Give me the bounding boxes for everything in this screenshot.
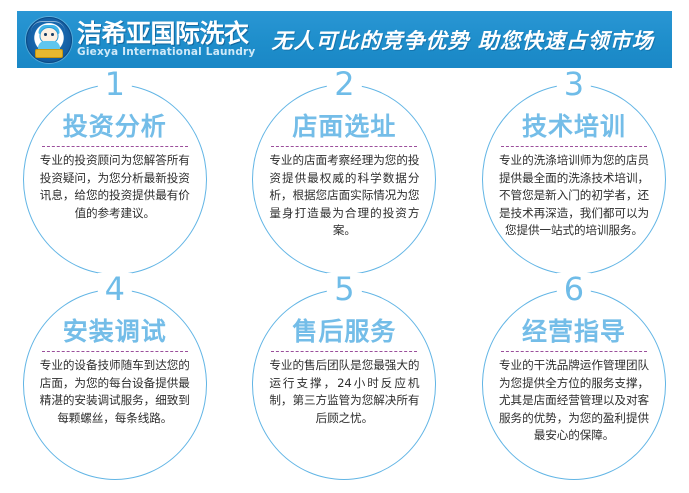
feature-card-6[interactable]: 6 经营指导 专业的干洗品牌运作管理团队为您提供全方位的服务支撑，尤其是店面经营… (459, 277, 689, 482)
feature-card-3[interactable]: 3 技术培训 专业的洗涤培训师为您的店员提供最全面的洗涤技术培训，不管您是新入门… (459, 72, 689, 277)
card-row-top: 1 投资分析 专业的投资顾问为您解答所有投资疑问，为您分析最新投资讯息，给您的投… (0, 72, 689, 277)
card-title: 售后服务 (292, 312, 396, 348)
logo-text-block: 洁希亚国际洗衣 Giexya International Laundry (77, 21, 255, 58)
card-divider (42, 146, 188, 147)
mascot-eye-left (44, 33, 47, 36)
card-divider (271, 351, 417, 352)
card-title: 技术培训 (522, 107, 626, 143)
card-title: 店面选址 (292, 107, 396, 143)
card-body-text: 专业的设备技师随车到达您的店面，为您的每台设备提供最精湛的安装调试服务，细致到每… (40, 357, 190, 427)
card-title: 安装调试 (63, 312, 167, 348)
brand-name-cn: 洁希亚国际洗衣 (77, 21, 255, 46)
card-body-text: 专业的售后团队是您最强大的运行支撑，24小时反应机制，第三方监管为您解决所有后顾… (269, 357, 419, 427)
card-body-text: 专业的洗涤培训师为您的店员提供最全面的洗涤技术培训，不管您是新入门的初学者，还是… (499, 152, 649, 240)
feature-card-4[interactable]: 4 安装调试 专业的设备技师随车到达您的店面，为您的每台设备提供最精湛的安装调试… (0, 277, 230, 482)
card-row-bottom: 4 安装调试 专业的设备技师随车到达您的店面，为您的每台设备提供最精湛的安装调试… (0, 277, 689, 482)
card-number: 1 (98, 68, 132, 100)
feature-card-5[interactable]: 5 售后服务 专业的售后团队是您最强大的运行支撑，24小时反应机制，第三方监管为… (230, 277, 460, 482)
card-number: 5 (327, 273, 361, 305)
header-banner: 洁希亚国际洗衣 Giexya International Laundry 无人可… (17, 11, 672, 68)
card-body-text: 专业的干洗品牌运作管理团队为您提供全方位的服务支撑，尤其是店面经营管理以及对客服… (499, 357, 649, 445)
card-number: 4 (98, 273, 132, 305)
card-divider (42, 351, 188, 352)
card-title: 经营指导 (522, 312, 626, 348)
card-divider (271, 146, 417, 147)
feature-cards-grid: 1 投资分析 专业的投资顾问为您解答所有投资疑问，为您分析最新投资讯息，给您的投… (0, 72, 689, 492)
card-number: 3 (557, 68, 591, 100)
card-title: 投资分析 (63, 107, 167, 143)
card-body-text: 专业的店面考察经理为您的投资提供最权威的科学数据分析，根据您店面实际情况为您量身… (269, 152, 419, 240)
brand-logo[interactable]: 洁希亚国际洗衣 Giexya International Laundry (17, 17, 255, 63)
feature-card-2[interactable]: 2 店面选址 专业的店面考察经理为您的投资提供最权威的科学数据分析，根据您店面实… (230, 72, 460, 277)
brand-name-en: Giexya International Laundry (77, 47, 255, 58)
header-tagline: 无人可比的竞争优势 助您快速占领市场 (271, 25, 653, 55)
mascot-eye-right (51, 33, 54, 36)
card-number: 2 (327, 68, 361, 100)
card-body-text: 专业的投资顾问为您解答所有投资疑问，为您分析最新投资讯息，给您的投资提供最有价值… (40, 152, 190, 222)
laundry-mascot-logo-icon (26, 17, 72, 63)
card-number: 6 (557, 273, 591, 305)
mascot-badge (35, 49, 63, 58)
card-divider (501, 351, 647, 352)
card-divider (501, 146, 647, 147)
feature-card-1[interactable]: 1 投资分析 专业的投资顾问为您解答所有投资疑问，为您分析最新投资讯息，给您的投… (0, 72, 230, 277)
